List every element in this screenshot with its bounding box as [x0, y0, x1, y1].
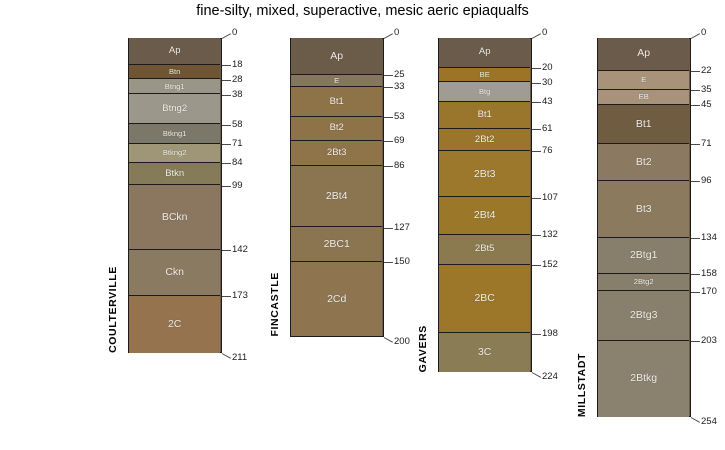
depth-label: 254: [701, 416, 717, 427]
depth-tick: [691, 90, 700, 91]
depth-tick: [691, 274, 700, 275]
depth-tick: [691, 71, 700, 72]
horizon-segment[interactable]: Bt3: [598, 181, 689, 238]
depth-tick: [691, 105, 700, 106]
depth-tick: [691, 292, 700, 293]
horizon-segment[interactable]: Bt2: [598, 144, 689, 181]
depth-tick: [691, 417, 700, 423]
depth-tick: [691, 238, 700, 239]
horizon-segment[interactable]: 2Btkg: [598, 341, 689, 417]
depth-label: 170: [701, 286, 717, 297]
depth-tick: [691, 144, 700, 145]
depth-tick: [691, 341, 700, 342]
horizon-label: 2Btg2: [634, 278, 654, 286]
depth-label: 134: [701, 232, 717, 243]
horizon-segment[interactable]: EB: [598, 90, 689, 105]
depth-label: 45: [701, 99, 712, 110]
horizon-segment[interactable]: 2Btg1: [598, 238, 689, 274]
horizon-segment[interactable]: Ap: [598, 38, 689, 71]
depth-tick: [691, 181, 700, 182]
horizon-segment[interactable]: Bt1: [598, 105, 689, 144]
depth-label: 203: [701, 335, 717, 346]
horizon-label: 2Btg3: [630, 310, 657, 321]
horizon-label: E: [641, 76, 646, 84]
depth-label: 35: [701, 84, 712, 95]
horizon-label: Bt3: [636, 204, 652, 215]
depth-label: 22: [701, 65, 712, 76]
horizon-label: Bt1: [636, 119, 652, 130]
pedon-name-label: MILLSTADT: [576, 38, 588, 417]
horizon-label: Ap: [637, 48, 650, 59]
horizon-segment[interactable]: E: [598, 71, 689, 90]
horizon-segment[interactable]: 2Btg3: [598, 291, 689, 340]
horizon-label: Bt2: [636, 157, 652, 168]
profile-column: ApEEBBt1Bt2Bt32Btg12Btg22Btg32Btkg: [597, 38, 691, 417]
horizon-segment[interactable]: 2Btg2: [598, 274, 689, 292]
depth-label: 71: [701, 138, 712, 149]
horizon-label: EB: [639, 93, 649, 101]
depth-label: 96: [701, 175, 712, 186]
depth-label: 0: [701, 27, 706, 38]
depth-label: 158: [701, 268, 717, 279]
soil-profile-plot: fine-silty, mixed, superactive, mesic ae…: [0, 0, 725, 450]
depth-tick: [691, 33, 700, 39]
horizon-label: 2Btkg: [630, 373, 657, 384]
soil-profile: MILLSTADTApEEBBt1Bt2Bt32Btg12Btg22Btg32B…: [0, 0, 725, 450]
horizon-label: 2Btg1: [630, 250, 657, 261]
